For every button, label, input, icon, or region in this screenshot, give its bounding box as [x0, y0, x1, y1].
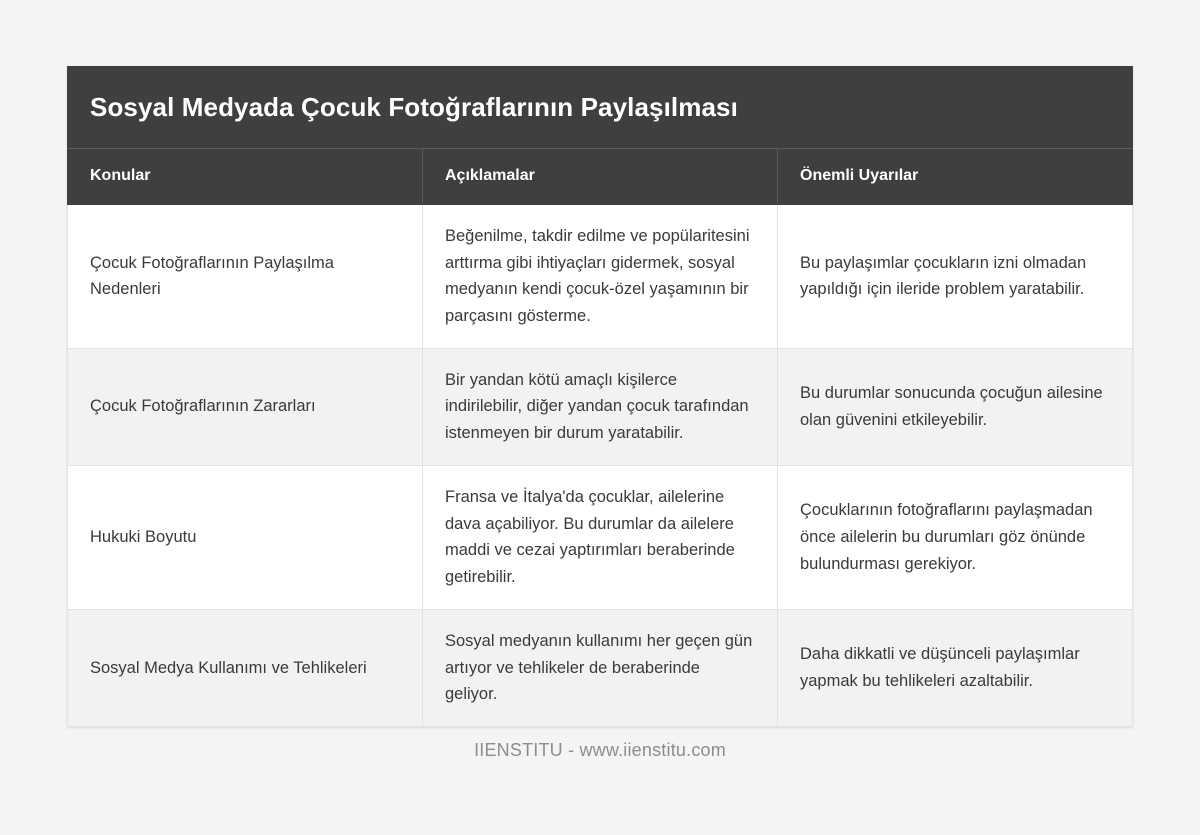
- cell-description: Bir yandan kötü amaçlı kişilerce indiril…: [423, 348, 778, 465]
- cell-warning: Çocuklarının fotoğraflarını paylaşmadan …: [778, 465, 1133, 609]
- cell-topic: Çocuk Fotoğraflarının Paylaşılma Nedenle…: [68, 204, 423, 348]
- page-root: Sosyal Medyada Çocuk Fotoğraflarının Pay…: [0, 0, 1200, 835]
- column-header-onemli-uyarilar: Önemli Uyarılar: [778, 148, 1133, 204]
- table-title: Sosyal Medyada Çocuk Fotoğraflarının Pay…: [68, 67, 1133, 149]
- cell-topic: Çocuk Fotoğraflarının Zararları: [68, 348, 423, 465]
- table-title-head: Sosyal Medyada Çocuk Fotoğraflarının Pay…: [68, 67, 1133, 149]
- cell-warning: Bu paylaşımlar çocukların izni olmadan y…: [778, 204, 1133, 348]
- footer-attribution: IIENSTITU - www.iienstitu.com: [0, 740, 1200, 761]
- table-column-head: Konular Açıklamalar Önemli Uyarılar: [68, 148, 1133, 204]
- cell-warning: Bu durumlar sonucunda çocuğun ailesine o…: [778, 348, 1133, 465]
- column-header-aciklamalar: Açıklamalar: [423, 148, 778, 204]
- cell-description: Beğenilme, takdir edilme ve popülaritesi…: [423, 204, 778, 348]
- table-body: Çocuk Fotoğraflarının Paylaşılma Nedenle…: [68, 204, 1133, 726]
- cell-description: Fransa ve İtalya'da çocuklar, ailelerine…: [423, 465, 778, 609]
- column-header-konular: Konular: [68, 148, 423, 204]
- table-row: Hukuki Boyutu Fransa ve İtalya'da çocukl…: [68, 465, 1133, 609]
- info-table: Sosyal Medyada Çocuk Fotoğraflarının Pay…: [67, 66, 1133, 727]
- cell-warning: Daha dikkatli ve düşünceli paylaşımlar y…: [778, 609, 1133, 726]
- cell-description: Sosyal medyanın kullanımı her geçen gün …: [423, 609, 778, 726]
- table-container: Sosyal Medyada Çocuk Fotoğraflarının Pay…: [67, 66, 1133, 727]
- column-header-row: Konular Açıklamalar Önemli Uyarılar: [68, 148, 1133, 204]
- cell-topic: Hukuki Boyutu: [68, 465, 423, 609]
- table-row: Çocuk Fotoğraflarının Paylaşılma Nedenle…: [68, 204, 1133, 348]
- cell-topic: Sosyal Medya Kullanımı ve Tehlikeleri: [68, 609, 423, 726]
- table-row: Çocuk Fotoğraflarının Zararları Bir yand…: [68, 348, 1133, 465]
- table-row: Sosyal Medya Kullanımı ve Tehlikeleri So…: [68, 609, 1133, 726]
- table-title-row: Sosyal Medyada Çocuk Fotoğraflarının Pay…: [68, 67, 1133, 149]
